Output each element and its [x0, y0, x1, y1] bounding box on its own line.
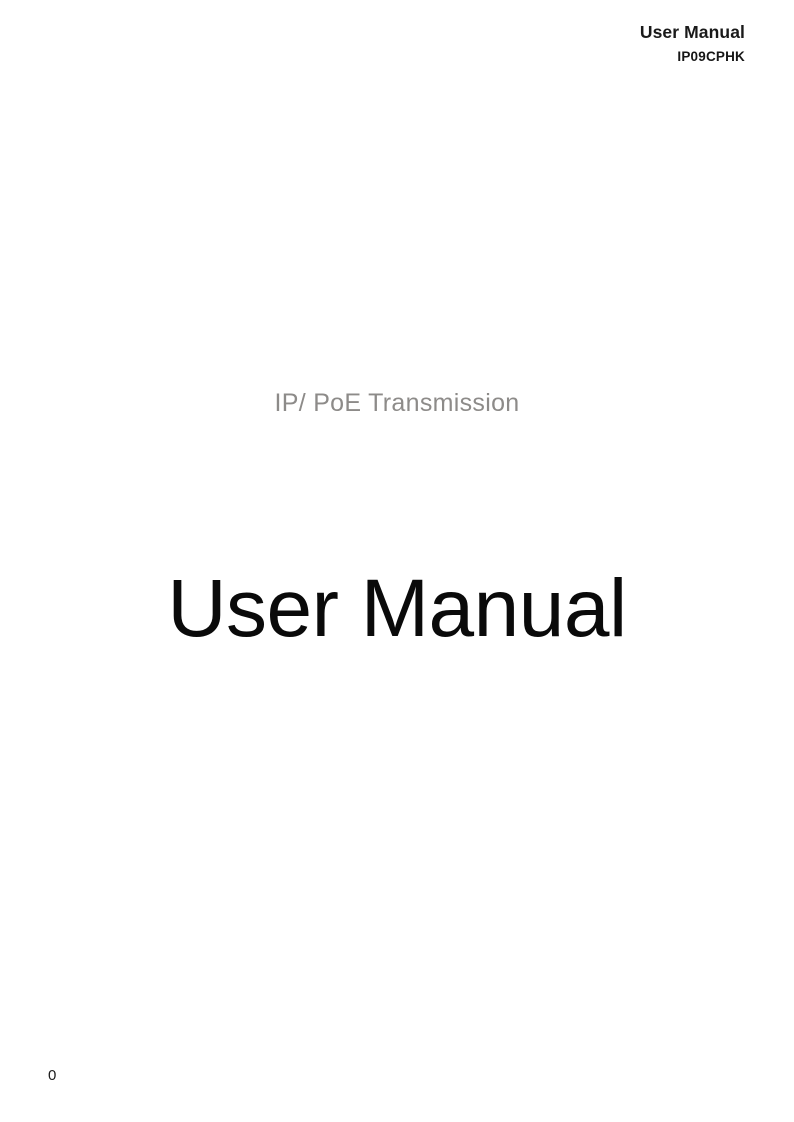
document-header: User Manual IP09CPHK — [640, 24, 745, 63]
cover-title: User Manual — [0, 566, 794, 653]
page-number: 0 — [48, 1068, 56, 1083]
document-page: User Manual IP09CPHK IP/ PoE Transmissio… — [0, 0, 794, 1122]
header-model-number: IP09CPHK — [640, 50, 745, 64]
header-title: User Manual — [640, 24, 745, 42]
cover-subtitle: IP/ PoE Transmission — [0, 388, 794, 418]
